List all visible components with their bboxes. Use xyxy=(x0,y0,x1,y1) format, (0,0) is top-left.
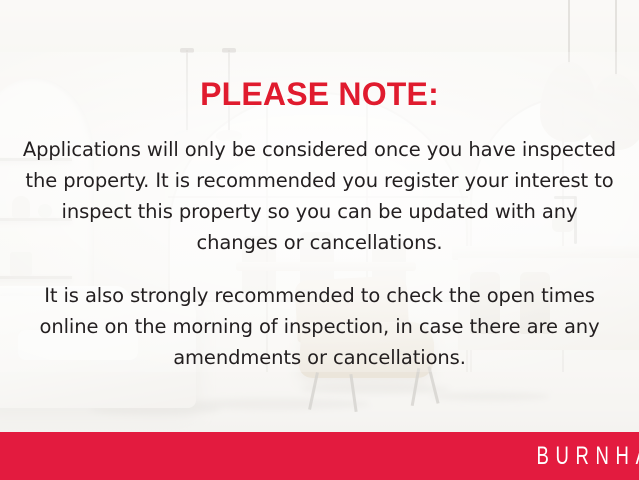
page-title: PLEASE NOTE: xyxy=(0,76,639,113)
notice-paragraph-1: Applications will only be considered onc… xyxy=(22,134,617,258)
notice-paragraph-2: It is also strongly recommended to check… xyxy=(22,280,617,373)
notice-body: Applications will only be considered onc… xyxy=(22,134,617,373)
bottom-banner: BURNHA xyxy=(0,432,639,480)
brand-wordmark: BURNHA xyxy=(537,442,639,471)
banner-content: BURNHA xyxy=(495,432,639,480)
notice-content: PLEASE NOTE: Applications will only be c… xyxy=(0,0,639,432)
slide-canvas: PLEASE NOTE: Applications will only be c… xyxy=(0,0,639,480)
